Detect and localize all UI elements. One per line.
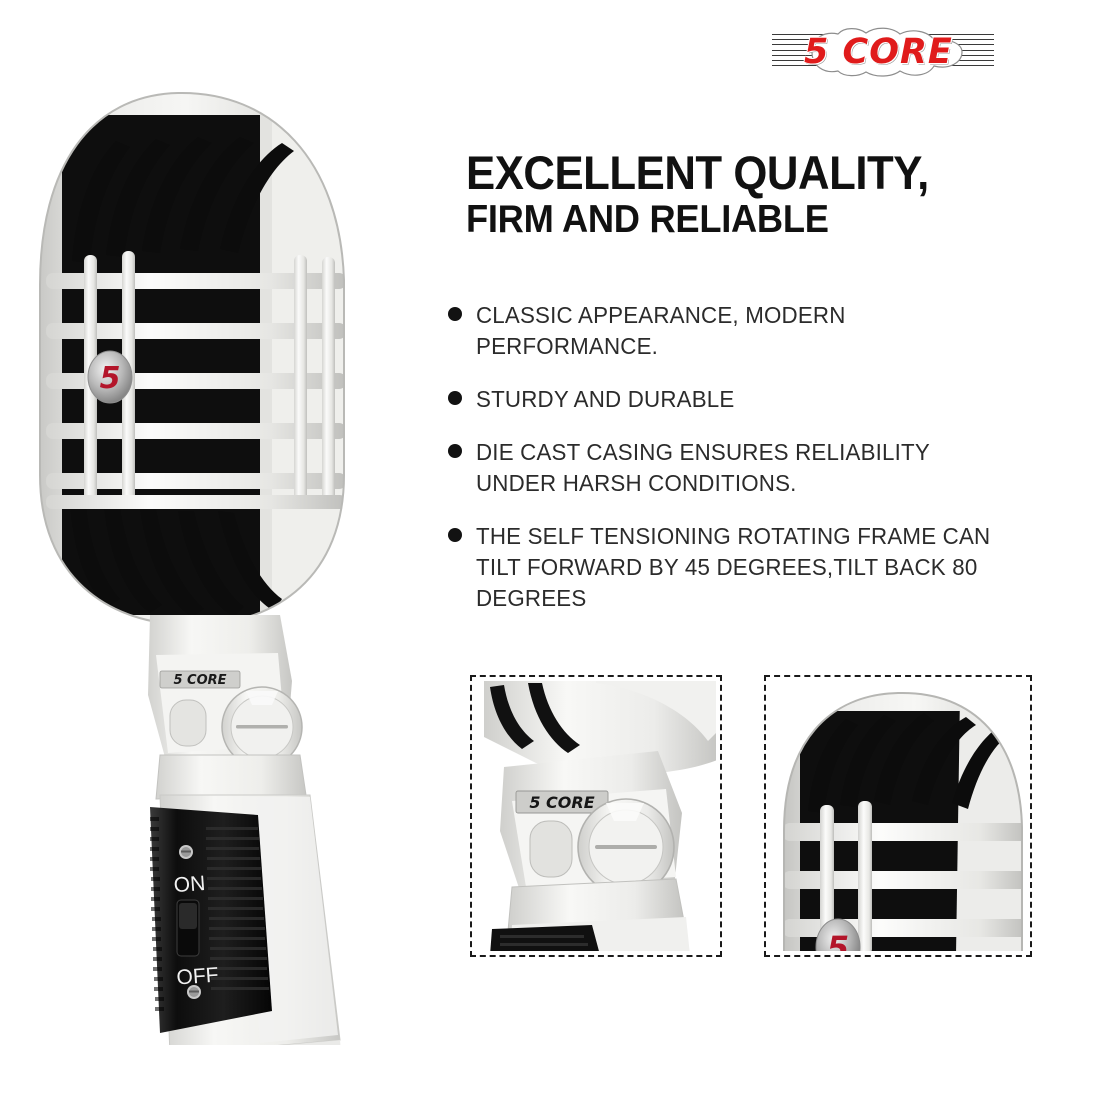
svg-text:5: 5	[827, 929, 849, 951]
list-item: STURDY AND DURABLE	[448, 384, 1048, 415]
head-badge-5: 5	[88, 351, 132, 403]
logo-text: 5 CORE	[804, 31, 970, 73]
brand-logo: 5 CORE	[772, 24, 994, 82]
microphone-yoke-mount: 5 CORE	[148, 615, 306, 799]
svg-text:5 CORE: 5 CORE	[173, 673, 226, 688]
switch-label-off: OFF	[176, 964, 220, 990]
list-item: DIE CAST CASING ENSURES RELIABILITY UNDE…	[448, 437, 1003, 499]
bullet-dot-icon	[448, 307, 462, 321]
list-item: THE SELF TENSIONING ROTATING FRAME CAN T…	[448, 521, 1048, 614]
feature-list: CLASSIC APPEARANCE, MODERN PERFORMANCE. …	[448, 300, 1048, 636]
bullet-dot-icon	[448, 528, 462, 542]
switch-screw-top	[179, 845, 193, 859]
bullet-dot-icon	[448, 444, 462, 458]
inset-grille-closeup: 5	[764, 675, 1032, 957]
feature-text: DIE CAST CASING ENSURES RELIABILITY UNDE…	[476, 437, 987, 499]
headline-line-2: FIRM AND RELIABLE	[466, 198, 1024, 242]
inset-brand-badge-text: 5 CORE	[529, 793, 594, 812]
product-feature-page: 5 CORE EXCELLENT QUALITY, FIRM AND RELIA…	[0, 0, 1096, 1096]
product-image-main: 5 5 CORE	[10, 55, 430, 1045]
switch-label-on: ON	[173, 872, 206, 897]
headline-line-1: EXCELLENT QUALITY,	[466, 148, 1024, 198]
on-off-switch-panel: ON OFF	[150, 807, 272, 1033]
bullet-dot-icon	[448, 391, 462, 405]
headline-block: EXCELLENT QUALITY, FIRM AND RELIABLE	[466, 148, 1066, 242]
feature-text: STURDY AND DURABLE	[476, 384, 734, 415]
svg-text:5: 5	[100, 361, 121, 396]
inset-yoke-closeup: 5 CORE	[470, 675, 722, 957]
yoke-brand-badge: 5 CORE	[160, 671, 240, 688]
feature-text: THE SELF TENSIONING ROTATING FRAME CAN T…	[476, 521, 1031, 614]
list-item: CLASSIC APPEARANCE, MODERN PERFORMANCE.	[448, 300, 1048, 362]
power-slider-toggle	[177, 900, 199, 956]
microphone-head: 5	[40, 93, 348, 629]
feature-text: CLASSIC APPEARANCE, MODERN PERFORMANCE.	[476, 300, 1031, 362]
